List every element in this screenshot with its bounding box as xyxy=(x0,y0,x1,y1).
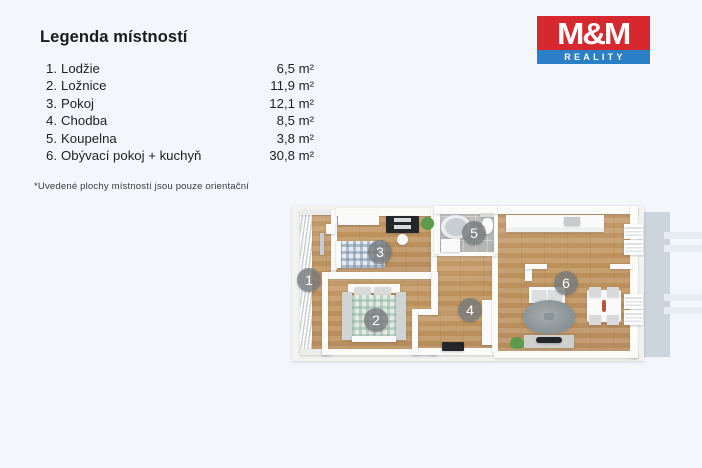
legend-panel: Legenda místností 1. Lodžie 6,5 m² 2. Lo… xyxy=(40,28,340,192)
list-item: 5. Koupelna 3,8 m² xyxy=(46,131,314,147)
brand-logo: M&M REALITY xyxy=(537,16,650,64)
list-item-area: 30,8 m² xyxy=(261,148,314,164)
wall-hall-left-lower xyxy=(412,309,418,355)
balcony-wall-top xyxy=(300,210,333,215)
room3-desk-chair xyxy=(397,234,408,245)
living-window-ledge-top xyxy=(610,264,632,269)
list-item-label: Pokoj xyxy=(61,96,261,112)
neighbor-rail-4 xyxy=(664,307,702,314)
room2-bed-bench xyxy=(352,336,396,342)
room3-wardrobe xyxy=(338,215,379,225)
list-item-area: 8,5 m² xyxy=(269,113,314,129)
room-badge-6-label: 6 xyxy=(562,276,570,290)
room-badge-3-label: 3 xyxy=(376,245,384,259)
wall-room6-bottom xyxy=(494,351,638,358)
living-tv xyxy=(536,337,562,343)
list-item-label: Ložnice xyxy=(61,78,262,94)
neighbor-rail-3 xyxy=(664,294,702,301)
list-item-label: Obývací pokoj + kuchyň xyxy=(61,148,261,164)
room-badge-5-label: 5 xyxy=(470,226,478,240)
living-coffee-table xyxy=(544,313,554,320)
wall-room6-top xyxy=(498,206,638,214)
room-legend-list: 1. Lodžie 6,5 m² 2. Ložnice 11,9 m² 3. P… xyxy=(40,61,314,164)
wall-room2-left xyxy=(322,272,328,355)
legend-footnote: *Uvedené plochy místností jsou pouze ori… xyxy=(34,181,340,192)
list-item: 2. Ložnice 11,9 m² xyxy=(46,78,314,94)
living-plant xyxy=(510,337,524,349)
brand-logo-text: M&M xyxy=(557,18,629,49)
living-window-top-1 xyxy=(624,224,643,239)
living-window-top-2 xyxy=(624,240,643,255)
list-item: 1. Lodžie 6,5 m² xyxy=(46,61,314,77)
list-item-label: Koupelna xyxy=(61,131,269,147)
list-item: 3. Pokoj 12,1 m² xyxy=(46,96,314,112)
room-badge-6[interactable]: 6 xyxy=(554,271,578,295)
wall-room5-left xyxy=(434,208,440,254)
list-item-area: 12,1 m² xyxy=(261,96,314,112)
room-badge-2-label: 2 xyxy=(372,313,380,327)
room-badge-3[interactable]: 3 xyxy=(368,240,392,264)
list-item-number: 2. xyxy=(46,78,61,94)
list-item-area: 3,8 m² xyxy=(269,131,314,147)
list-item-label: Lodžie xyxy=(61,61,269,77)
kitchen-sink xyxy=(564,217,580,226)
entry-door-mat xyxy=(442,342,464,351)
dining-chair-4 xyxy=(607,315,619,325)
list-item-number: 6. xyxy=(46,148,61,164)
neighbor-rail-2 xyxy=(664,245,702,252)
list-item: 4. Chodba 8,5 m² xyxy=(46,113,314,129)
brand-logo-subtext: REALITY xyxy=(561,53,626,62)
floorplan-image: 1 2 3 4 5 6 xyxy=(284,196,702,374)
dining-chair-1 xyxy=(589,287,601,297)
room5-washing-machine xyxy=(441,239,460,252)
room3-plant xyxy=(421,217,434,230)
living-window-bottom-2 xyxy=(624,310,643,325)
dining-chair-3 xyxy=(589,315,601,325)
list-item-number: 4. xyxy=(46,113,61,129)
kitchen-upper-cabinet xyxy=(506,228,604,232)
list-item-number: 1. xyxy=(46,61,61,77)
dining-chair-2 xyxy=(607,287,619,297)
page-title: Legenda místností xyxy=(40,28,340,47)
list-item-number: 3. xyxy=(46,96,61,112)
balcony-rail-post xyxy=(320,233,324,255)
brand-logo-subbar: REALITY xyxy=(537,50,650,64)
room5-shelf xyxy=(480,213,494,217)
list-item-label: Chodba xyxy=(61,113,269,129)
room3-bed-headboard xyxy=(336,241,341,268)
room3-monitor-1 xyxy=(394,218,411,222)
wall-hall-notch-vertical xyxy=(432,272,438,314)
brand-logo-mark: M&M xyxy=(537,16,650,50)
wall-room3-room2 xyxy=(324,272,437,279)
room-badge-4[interactable]: 4 xyxy=(458,298,482,322)
list-item-number: 5. xyxy=(46,131,61,147)
list-item-area: 11,9 m² xyxy=(262,78,314,94)
room-badge-4-label: 4 xyxy=(466,303,474,317)
room2-nightstand-right xyxy=(396,292,406,340)
floorplan-canvas: 1 2 3 4 5 6 xyxy=(284,196,702,374)
room3-monitor-2 xyxy=(394,225,411,229)
room-badge-2[interactable]: 2 xyxy=(364,308,388,332)
list-item-area: 6,5 m² xyxy=(269,61,314,77)
room-badge-1-label: 1 xyxy=(305,273,313,287)
kitchen-counter xyxy=(506,215,604,228)
room-badge-1[interactable]: 1 xyxy=(297,268,321,292)
living-divider-shelf xyxy=(525,264,547,269)
dining-centerpiece xyxy=(602,300,606,312)
room-badge-5[interactable]: 5 xyxy=(462,221,486,245)
living-window-bottom-1 xyxy=(624,294,643,309)
room3-wall-mirror xyxy=(326,224,335,234)
list-item: 6. Obývací pokoj + kuchyň 30,8 m² xyxy=(46,148,314,164)
neighbor-rail-1 xyxy=(664,232,702,239)
room2-nightstand-left xyxy=(342,292,352,340)
